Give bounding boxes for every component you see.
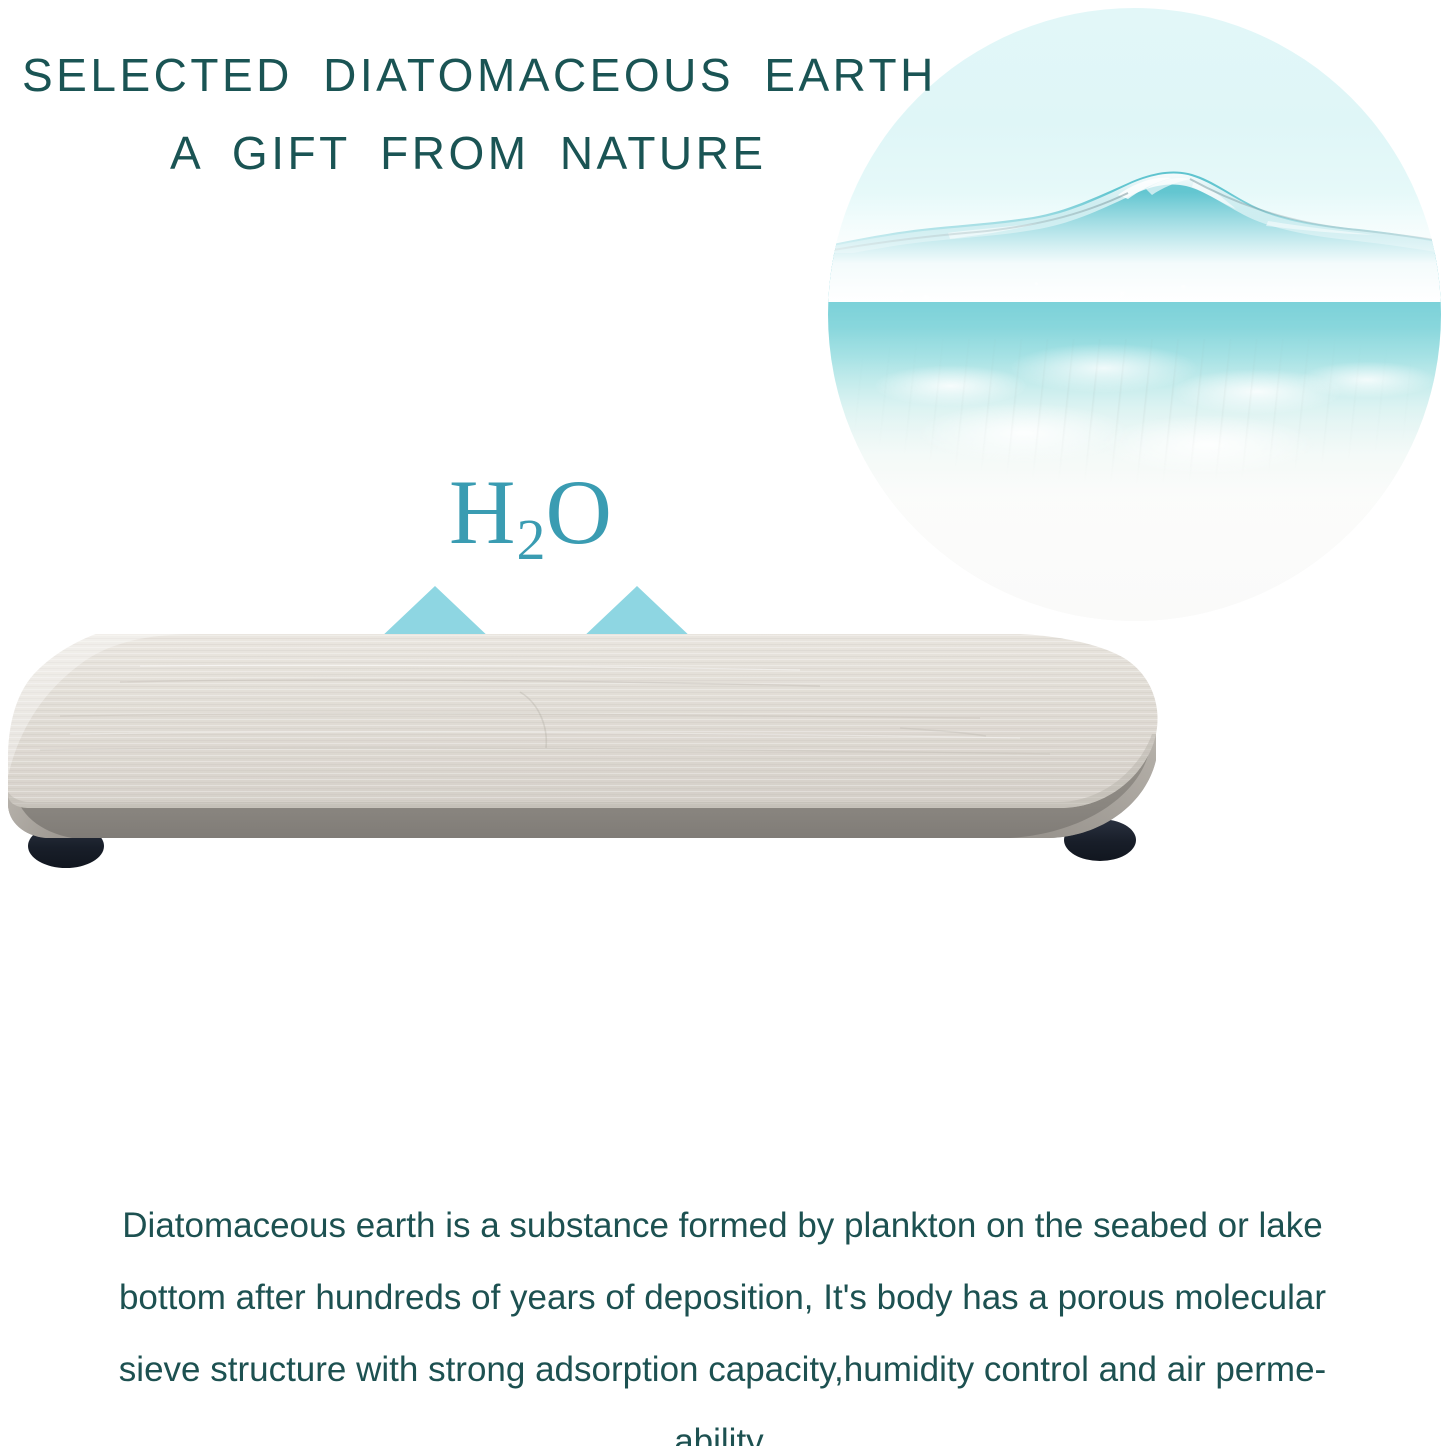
mat-grain-texture [0,628,1180,813]
h2o-subscript: 2 [516,507,545,572]
powder-texture [828,339,1441,535]
description-line-4: ability. [0,1406,1445,1446]
h2o-o: O [545,461,612,563]
h2o-label: H2O [449,466,613,569]
h2o-h: H [449,461,516,563]
headline-line-2: A GIFT FROM NATURE [170,118,767,189]
horizon-haze [828,192,1441,302]
description-line-2: bottom after hundreds of years of deposi… [0,1262,1445,1334]
product-infographic-page: SELECTED DIATOMACEOUS EARTH A GIFT FROM … [0,0,1445,1446]
description-paragraph: Diatomaceous earth is a substance formed… [0,1190,1445,1446]
description-line-1: Diatomaceous earth is a substance formed… [0,1190,1445,1262]
headline-line-1: SELECTED DIATOMACEOUS EARTH [22,40,937,111]
description-line-3: sieve structure with strong adsorption c… [0,1334,1445,1406]
diatomaceous-earth-bath-mat [0,608,1180,898]
